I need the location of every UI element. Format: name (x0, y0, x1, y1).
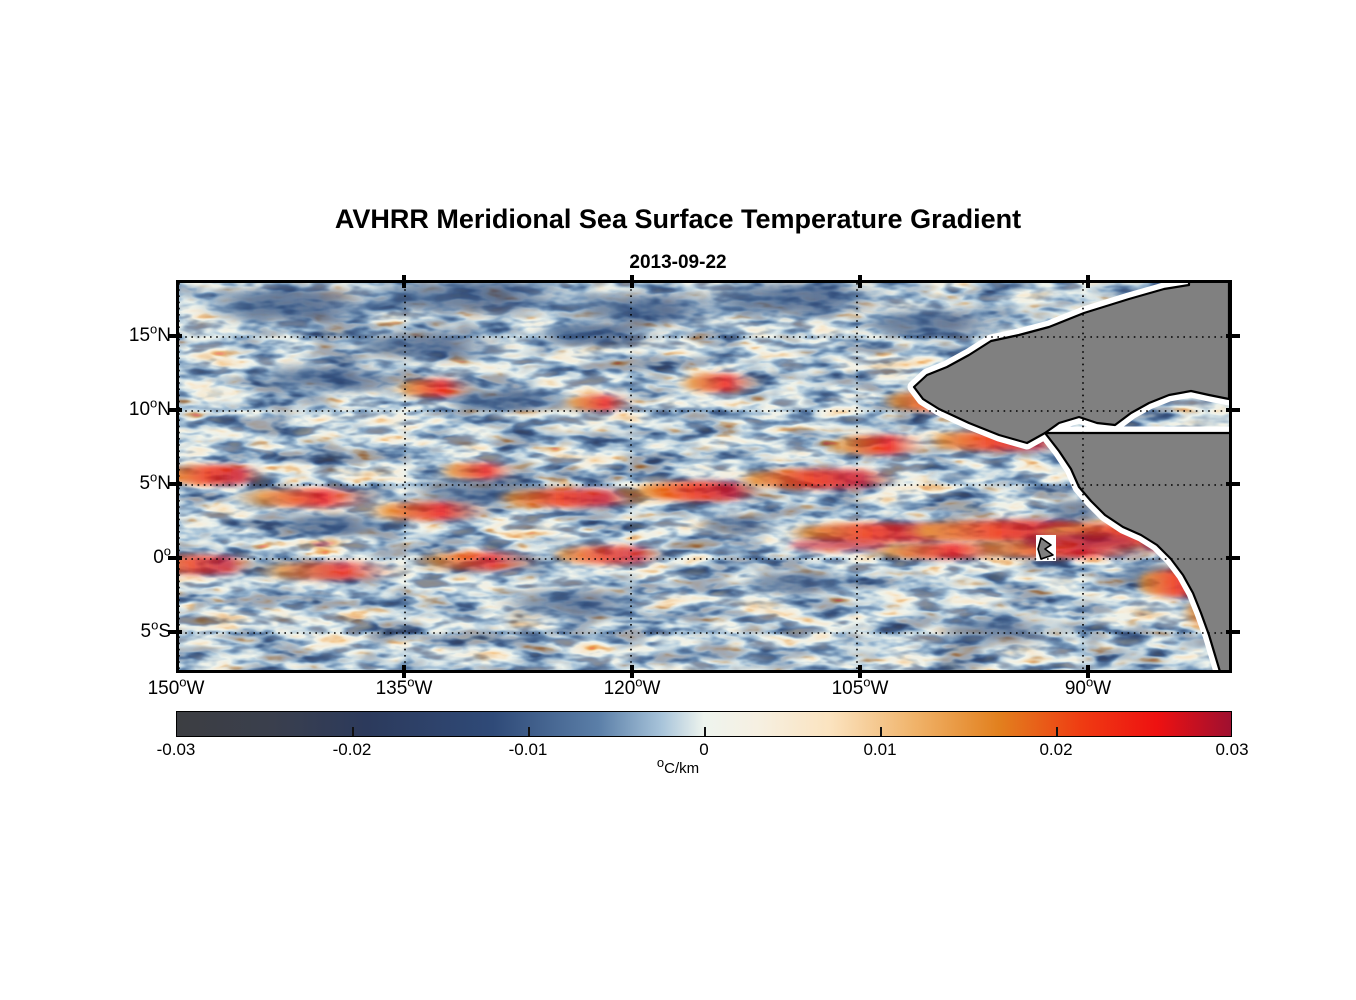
xtick-mark-120W (630, 275, 634, 288)
degree-symbol: o (863, 675, 870, 690)
colorbar-unit-text: C/km (664, 760, 699, 777)
xtick-mark-b-120W (630, 665, 634, 678)
ytick-label-10N: 10oN (51, 400, 171, 419)
degree-symbol: o (635, 675, 642, 690)
colorbar-tick-n002 (352, 727, 354, 736)
degree-symbol: o (407, 675, 414, 690)
ytick-mark-r-5S (1226, 630, 1240, 634)
ytick-10N-value: 10 (129, 399, 150, 420)
colorbar-label-0.01: 0.01 (810, 741, 950, 758)
colorbar-tick-p001 (880, 727, 882, 736)
page-title: AVHRR Meridional Sea Surface Temperature… (0, 204, 1356, 235)
colorbar-label--0.03: -0.03 (106, 741, 246, 758)
xtick-mark-b-105W (858, 665, 862, 678)
ytick-mark-r-0 (1226, 556, 1240, 560)
ytick-label-15N: 15oN (51, 326, 171, 345)
map-axes[interactable] (176, 280, 1232, 673)
sst-gradient-heatmap (179, 283, 1229, 670)
ytick-label-5N: 5oN (51, 474, 171, 493)
xtick-label-135W: 135oW (324, 679, 484, 698)
xtick-150W-hemisphere: W (187, 678, 205, 699)
figure-canvas: AVHRR Meridional Sea Surface Temperature… (0, 0, 1356, 1000)
ytick-15N-hemisphere: N (157, 325, 171, 346)
xtick-135W-value: 135 (376, 678, 408, 699)
ytick-5N-hemisphere: N (157, 473, 171, 494)
xtick-90W-hemisphere: W (1093, 678, 1111, 699)
ytick-5S-hemisphere: S (158, 621, 171, 642)
ytick-label-5S: 5oS (51, 622, 171, 641)
xtick-120W-hemisphere: W (643, 678, 661, 699)
ytick-10N-hemisphere: N (157, 399, 171, 420)
colorbar-tick-n001 (528, 727, 530, 736)
xtick-105W-value: 105 (832, 678, 864, 699)
degree-symbol: o (179, 675, 186, 690)
colorbar-label--0.01: -0.01 (458, 741, 598, 758)
ytick-15N-value: 15 (129, 325, 150, 346)
colorbar[interactable] (176, 711, 1232, 737)
ytick-0-value: 0 (153, 547, 164, 568)
xtick-105W-hemisphere: W (871, 678, 889, 699)
colorbar-label-0: 0 (634, 741, 774, 758)
galapagos-islands (1036, 535, 1056, 561)
degree-symbol: o (164, 544, 171, 559)
ytick-mark-r-15N (1226, 334, 1240, 338)
colorbar-tick-p002 (1056, 727, 1058, 736)
ytick-mark-r-5N (1226, 482, 1240, 486)
xtick-label-150W: 150oW (96, 679, 256, 698)
ytick-mark-r-10N (1226, 408, 1240, 412)
ytick-label-0: 0o (51, 548, 171, 567)
xtick-mark-90W (1086, 275, 1090, 288)
figure-subtitle: 2013-09-22 (0, 252, 1356, 274)
xtick-90W-value: 90 (1065, 678, 1086, 699)
colorbar-unit-label: oC/km (0, 760, 1356, 777)
xtick-mark-105W (858, 275, 862, 288)
colorbar-tick-0 (704, 727, 706, 736)
xtick-150W-value: 150 (148, 678, 180, 699)
xtick-mark-135W (402, 275, 406, 288)
colorbar-label--0.02: -0.02 (282, 741, 422, 758)
xtick-label-120W: 120oW (552, 679, 712, 698)
xtick-label-90W: 90oW (1008, 679, 1168, 698)
ytick-5S-value: 5 (141, 621, 152, 642)
ytick-5N-value: 5 (139, 473, 150, 494)
xtick-120W-value: 120 (604, 678, 636, 699)
colorbar-label-0.02: 0.02 (986, 741, 1126, 758)
colorbar-label-0.03: 0.03 (1162, 741, 1302, 758)
xtick-mark-b-135W (402, 665, 406, 678)
xtick-135W-hemisphere: W (415, 678, 433, 699)
xtick-label-105W: 105oW (780, 679, 940, 698)
